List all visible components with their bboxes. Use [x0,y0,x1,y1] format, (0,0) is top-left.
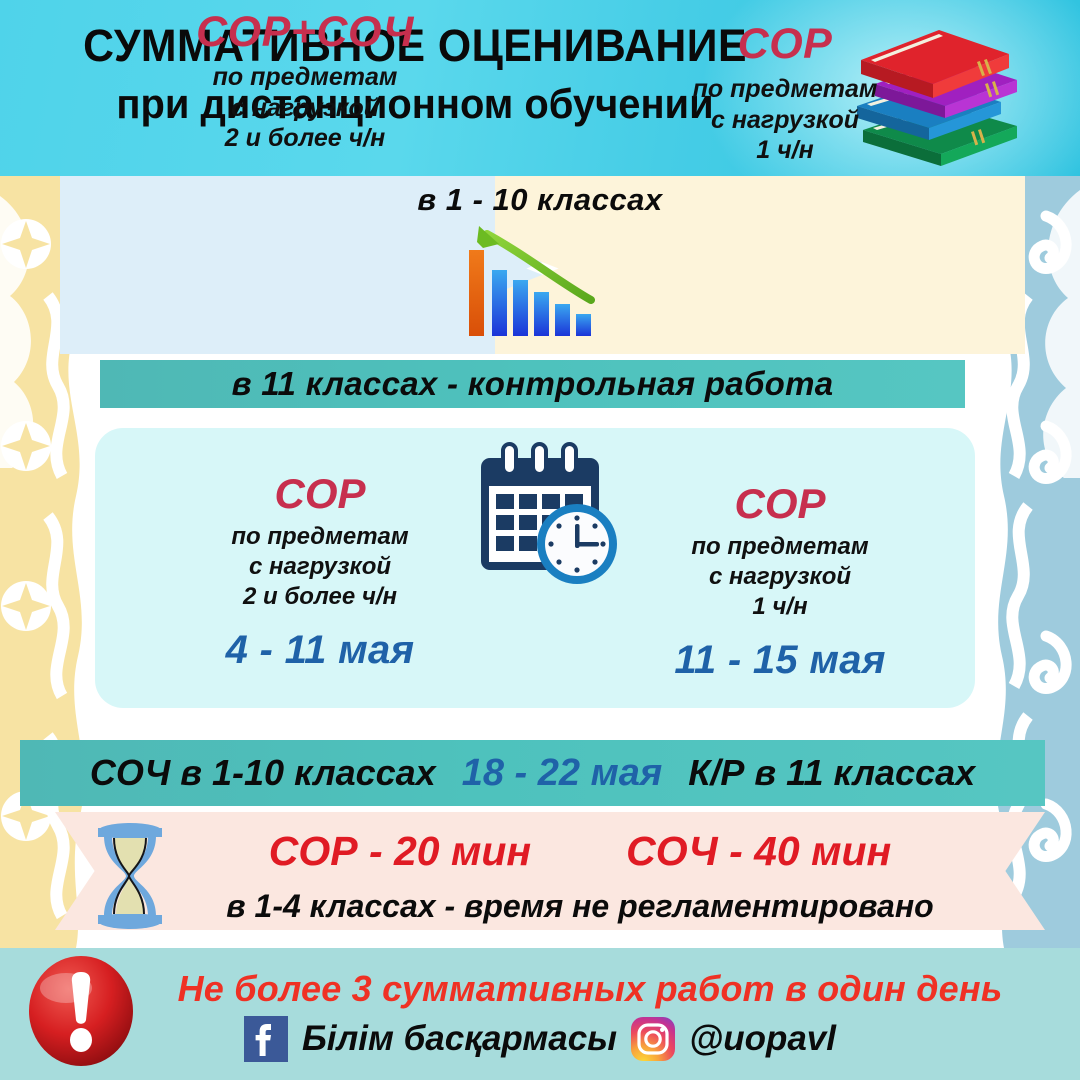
soch-duration: СОЧ - 40 мин [626,828,891,875]
facebook-page-name[interactable]: Білім басқармасы [302,1019,617,1059]
sor-soch-sub-line1: по предметам [95,62,515,93]
calendar-right-sub-line1: по предметам [600,532,960,562]
calendar-right-title: СОР [600,482,960,526]
sor-1hour-sub-line1: по предметам [585,74,985,105]
calendar-right-sub-line3: 1 ч/н [600,592,960,622]
calendar-left-block: СОР по предметам с нагрузкой 2 и более ч… [140,472,500,673]
sor-soch-block: СОР+СОЧ по предметам с нагрузкой 2 и бол… [95,10,515,154]
sor-1hour-block: СОР по предметам с нагрузкой 1 ч/н [585,22,985,166]
descending-bar-chart-icon [455,222,635,342]
calendar-left-sub-line3: 2 и более ч/н [140,582,500,612]
sor-soch-sub-line3: 2 и более ч/н [95,123,515,154]
calendar-left-sub-line1: по предметам [140,522,500,552]
sor-soch-title: СОР+СОЧ [95,10,515,55]
facebook-icon[interactable] [244,1016,288,1062]
classes-1-10-label: в 1 - 10 классах [0,182,1080,218]
sor-1hour-title: СОР [585,22,985,67]
sor-1hour-subtitle: по предметам с нагрузкой 1 ч/н [585,74,985,166]
sor-soch-subtitle: по предметам с нагрузкой 2 и более ч/н [95,62,515,154]
banner-soch-right: К/Р в 11 классах [688,752,975,794]
calendar-right-date: 11 - 15 мая [600,638,960,683]
sor-duration: СОР - 20 мин [269,828,531,875]
instagram-handle[interactable]: @uopavl [689,1019,836,1059]
sor-soch-sub-line2: с нагрузкой [95,93,515,124]
banner-soch-date: 18 - 22 мая [462,752,662,795]
calendar-left-subtitle: по предметам с нагрузкой 2 и более ч/н [140,522,500,612]
calendar-right-subtitle: по предметам с нагрузкой 1 ч/н [600,532,960,622]
banner-11-class-text: в 11 классах - контрольная работа [232,365,834,403]
hourglass-icon [88,822,172,930]
social-links-row: Білім басқармасы @uopavl [0,1016,1080,1062]
calendar-right-block: СОР по предметам с нагрузкой 1 ч/н 11 - … [600,482,960,683]
time-values-row: СОР - 20 мин СОЧ - 40 мин [185,828,975,875]
time-note: в 1-4 классах - время не регламентирован… [185,888,975,925]
banner-soch-dates: СОЧ в 1-10 классах 18 - 22 мая К/Р в 11 … [20,740,1045,806]
calendar-right-sub-line2: с нагрузкой [600,562,960,592]
warning-text: Не более 3 суммативных работ в один день [140,968,1040,1010]
banner-11-class: в 11 классах - контрольная работа [100,360,965,408]
banner-soch-left: СОЧ в 1-10 классах [90,752,436,794]
calendar-left-title: СОР [140,472,500,516]
instagram-icon[interactable] [631,1017,675,1061]
calendar-left-sub-line2: с нагрузкой [140,552,500,582]
sor-1hour-sub-line3: 1 ч/н [585,135,985,166]
infographic-poster: СУММАТИВНОЕ ОЦЕНИВАНИЕ при дистанционном… [0,0,1080,1080]
sor-1hour-sub-line2: с нагрузкой [585,105,985,136]
calendar-left-date: 4 - 11 мая [140,628,500,673]
